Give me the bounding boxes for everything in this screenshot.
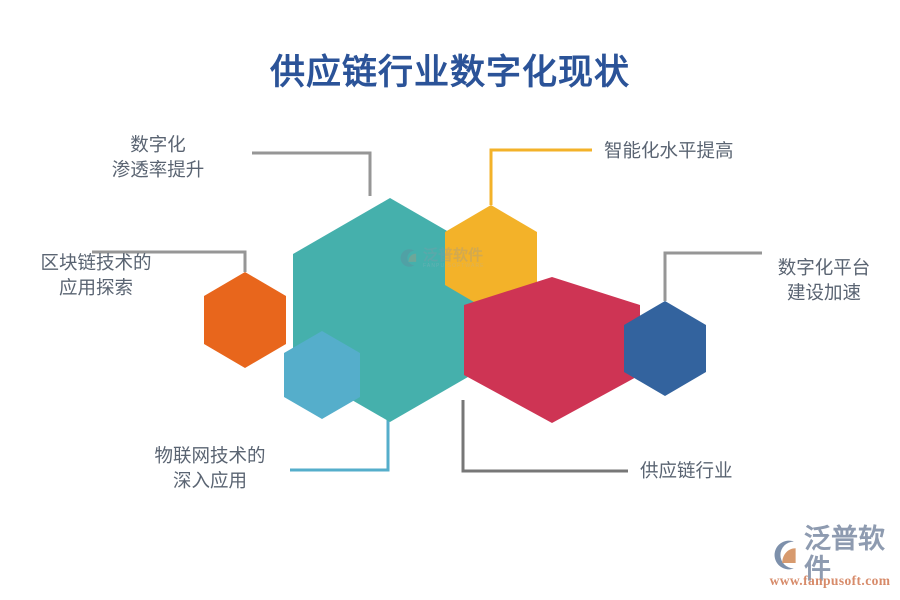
label-line: 数字化平台 <box>754 256 894 281</box>
label-line: 智能化水平提高 <box>604 139 734 164</box>
label-line: 建设加速 <box>754 281 894 306</box>
label-blockchain-exploration: 区块链技术的 应用探索 <box>16 251 176 301</box>
infographic-canvas: 供应链行业数字化现状 <box>0 0 900 600</box>
brand-logo-row: 泛普软件 <box>766 536 894 574</box>
label-iot-application: 物联网技术的 深入应用 <box>130 444 290 494</box>
hexagon-blockchain-exploration[interactable] <box>204 272 286 368</box>
label-line: 渗透率提升 <box>64 158 252 183</box>
brand-url: www.fanpusoft.com <box>766 573 894 589</box>
label-line: 物联网技术的 <box>130 444 290 469</box>
brand-logo: 泛普软件 www.fanpusoft.com <box>766 536 894 592</box>
label-line: 深入应用 <box>130 469 290 494</box>
label-digital-penetration: 数字化 渗透率提升 <box>64 133 252 183</box>
label-line: 应用探索 <box>16 276 176 301</box>
hexagon-supply-chain-industry[interactable] <box>464 277 640 423</box>
fanpu-logo-icon <box>766 538 802 572</box>
connector-platform-construction <box>665 253 762 301</box>
connector-intelligence-level <box>491 150 592 205</box>
label-supply-chain-industry: 供应链行业 <box>640 459 733 484</box>
label-platform-construction: 数字化平台 建设加速 <box>754 256 894 306</box>
label-line: 数字化 <box>64 133 252 158</box>
connector-iot-application <box>290 420 388 470</box>
label-intelligence-level: 智能化水平提高 <box>604 139 734 164</box>
label-line: 供应链行业 <box>640 459 733 484</box>
label-line: 区块链技术的 <box>16 251 176 276</box>
connector-digital-penetration <box>252 153 370 196</box>
